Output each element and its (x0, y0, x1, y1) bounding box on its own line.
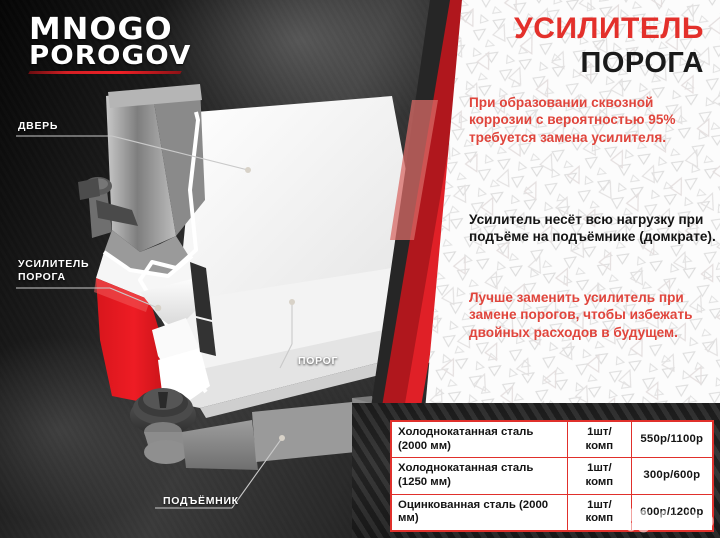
paragraph-corrosion: При образовании сквозной коррозии с веро… (469, 94, 715, 146)
logo-underline (28, 71, 182, 74)
quantity-value: 1шт/комп (568, 458, 631, 494)
quantity-value: 1шт/комп (568, 421, 631, 458)
page-title: УСИЛИТЕЛЬ ПОРОГА (514, 14, 704, 78)
label-door: ДВЕРЬ (18, 120, 58, 133)
logo-line-1: MNOGO (29, 16, 220, 44)
paragraph-load: Усилитель несёт всю нагрузку при подъёме… (469, 211, 720, 246)
price-value: 550р/1100р (631, 421, 713, 458)
logo-line-2: POROGOV (29, 45, 220, 69)
table-row: Холоднокатанная сталь (2000 мм) 1шт/комп… (391, 421, 713, 458)
title-line-2: ПОРОГА (514, 49, 704, 78)
label-sill-reinforcement: УСИЛИТЕЛЬ ПОРОГА (18, 258, 89, 284)
price-value: 300р/600р (631, 458, 713, 494)
price-table: Холоднокатанная сталь (2000 мм) 1шт/комп… (390, 420, 714, 532)
paragraph-replace: Лучше заменить усилитель при замене поро… (469, 289, 720, 341)
price-value: 600р/1200р (631, 494, 713, 531)
table-row: Оцинкованная сталь (2000 мм) 1шт/комп 60… (391, 494, 713, 531)
label-sill: ПОРОГ (298, 355, 338, 368)
table-row: Холоднокатанная сталь (1250 мм) 1шт/комп… (391, 458, 713, 494)
right-content-panel: УСИЛИТЕЛЬ ПОРОГА (425, 0, 720, 410)
material-name: Холоднокатанная сталь (1250 мм) (391, 458, 568, 494)
title-line-1: УСИЛИТЕЛЬ (514, 14, 704, 44)
advertisement-banner: MNOGO POROGOV ДВЕРЬ УСИЛИТЕЛЬ ПОРОГА ПОР… (0, 0, 720, 538)
label-lift: ПОДЪЁМНИК (163, 495, 239, 508)
brand-logo[interactable]: MNOGO POROGOV (29, 16, 209, 74)
quantity-value: 1шт/комп (568, 494, 631, 531)
material-name: Оцинкованная сталь (2000 мм) (391, 494, 568, 531)
material-name: Холоднокатанная сталь (2000 мм) (391, 421, 568, 458)
